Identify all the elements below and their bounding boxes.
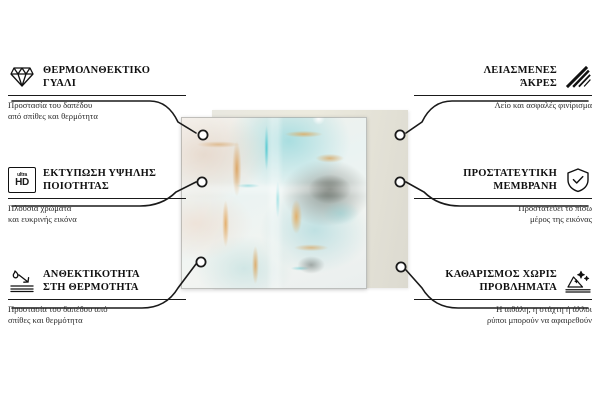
ultra-hd-badge-bottom: HD [15,178,29,188]
ultra-hd-badge: ultra HD [8,167,36,193]
feature-divider [414,95,592,96]
feature-header: ΚΑΘΑΡΙΣΜΟΣ ΧΩΡΙΣ ΠΡΟΒΛΗΜΑΤΑ [414,266,592,296]
feature-polished-edges: ΛΕΙΑΣΜΕΝΕΣ ΆΚΡΕΣ Λείο και ασφαλές φινίρι… [414,62,592,111]
sparkle-clean-icon [564,267,592,295]
shield-check-icon [564,166,592,194]
feature-title: ΛΕΙΑΣΜΕΝΕΣ ΆΚΡΕΣ [484,64,557,90]
feature-divider [8,95,186,96]
feature-title: ΕΚΤΥΠΩΣΗ ΥΨΗΛΗΣ ΠΟΙΟΤΗΤΑΣ [43,167,156,193]
glass-panel-edge [181,117,367,289]
feature-description: Προστασία του δαπέδου από σπίθες και θερ… [8,100,186,122]
product-feature-infographic: ΘΕΡΜΟΛΝΘΕΚΤΙΚΟ ΓΥΑΛΙ Προστασία του δαπέδ… [0,0,600,400]
feature-divider [8,198,186,199]
feature-header: ΘΕΡΜΟΛΝΘΕΚΤΙΚΟ ΓΥΑΛΙ [8,62,186,92]
feature-description: Πλούσια χρώματα και ευκρινής εικόνα [8,203,186,225]
feature-title: ΚΑΘΑΡΙΣΜΟΣ ΧΩΡΙΣ ΠΡΟΒΛΗΜΑΤΑ [445,268,557,294]
feature-title: ΑΝΘΕΚΤΙΚΟΤΗΤΑ ΣΤΗ ΘΕΡΜΟΤΗΤΑ [43,268,140,294]
feature-header: ΛΕΙΑΣΜΕΝΕΣ ΆΚΡΕΣ [414,62,592,92]
feature-header: ultra HD ΕΚΤΥΠΩΣΗ ΥΨΗΛΗΣ ΠΟΙΟΤΗΤΑΣ [8,165,186,195]
feature-description: Προστασία του δαπέδου από σπίθες και θερ… [8,304,186,326]
feature-description: Η αιθάλη, η στάχτη ή άλλοι ρύποι μπορούν… [414,304,592,326]
feature-heat-durability: ΑΝΘΕΚΤΙΚΟΤΗΤΑ ΣΤΗ ΘΕΡΜΟΤΗΤΑ Προστασία το… [8,266,186,326]
feature-divider [414,299,592,300]
feature-title: ΠΡΟΣΤΑΤΕΥΤΙΚΗ ΜΕΜΒΡΑΝΗ [463,167,557,193]
feature-high-quality-print: ultra HD ΕΚΤΥΠΩΣΗ ΥΨΗΛΗΣ ΠΟΙΟΤΗΤΑΣ Πλούσ… [8,165,186,225]
feature-easy-cleaning: ΚΑΘΑΡΙΣΜΟΣ ΧΩΡΙΣ ΠΡΟΒΛΗΜΑΤΑ Η αιθάλη, η … [414,266,592,326]
diagonal-stripes-icon [564,63,592,91]
diamond-icon [8,63,36,91]
glass-panel-front [181,117,367,289]
feature-header: ΠΡΟΣΤΑΤΕΥΤΙΚΗ ΜΕΜΒΡΑΝΗ [414,165,592,195]
feature-divider [8,299,186,300]
feature-description: Προστατεύει το πίσω μέρος της εικόνας [414,203,592,225]
feature-header: ΑΝΘΕΚΤΙΚΟΤΗΤΑ ΣΤΗ ΘΕΡΜΟΤΗΤΑ [8,266,186,296]
ultra-hd-icon: ultra HD [8,166,36,194]
flame-heat-icon [8,267,36,295]
feature-protective-membrane: ΠΡΟΣΤΑΤΕΥΤΙΚΗ ΜΕΜΒΡΑΝΗ Προστατεύει το πί… [414,165,592,225]
feature-divider [414,198,592,199]
feature-description: Λείο και ασφαλές φινίρισμα [414,100,592,111]
product-image [178,108,408,293]
feature-title: ΘΕΡΜΟΛΝΘΕΚΤΙΚΟ ΓΥΑΛΙ [43,64,150,90]
feature-heat-resistant-glass: ΘΕΡΜΟΛΝΘΕΚΤΙΚΟ ΓΥΑΛΙ Προστασία του δαπέδ… [8,62,186,122]
